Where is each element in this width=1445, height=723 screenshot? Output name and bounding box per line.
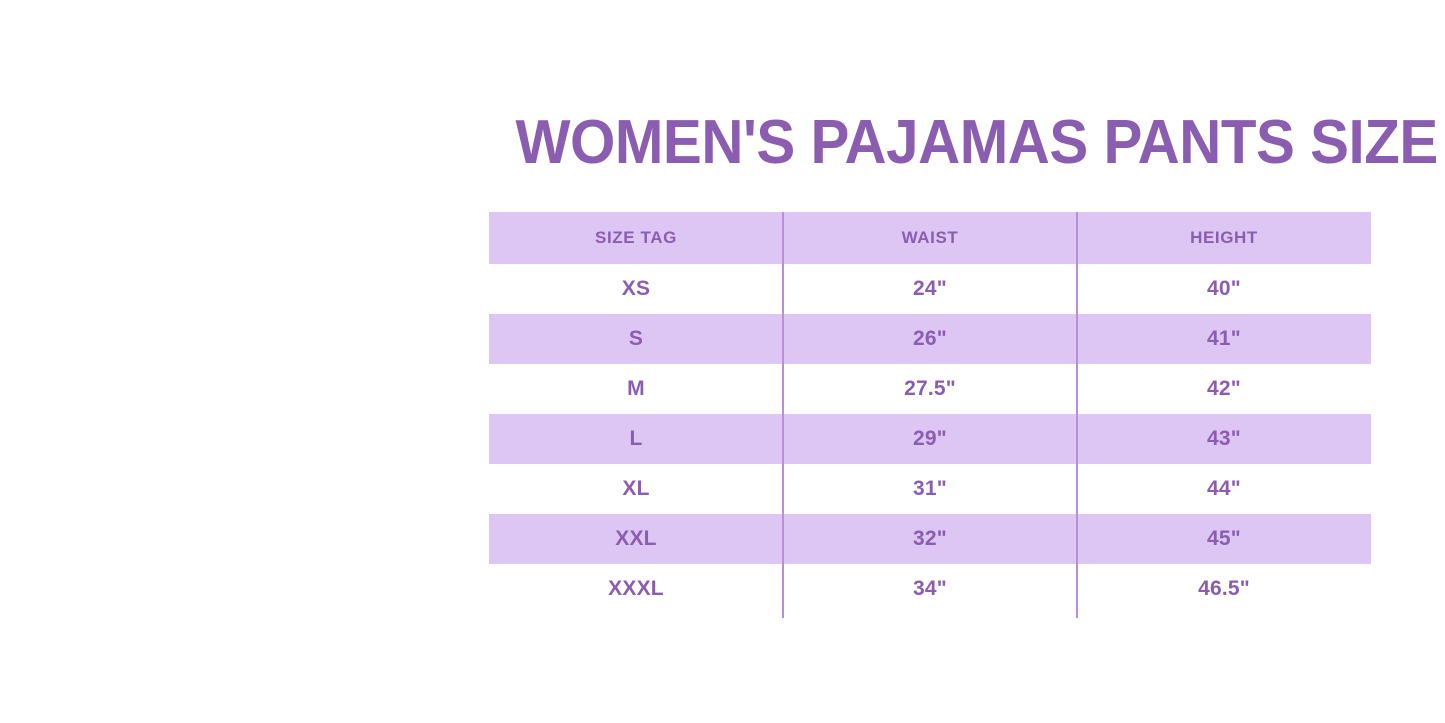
cell-waist: 24" <box>783 264 1077 314</box>
table-row: XS 24" 40" <box>489 264 1371 314</box>
cell-height: 41" <box>1077 314 1371 364</box>
cell-height: 40" <box>1077 264 1371 314</box>
cell-size-tag: XL <box>489 464 783 514</box>
cell-size-tag: M <box>489 364 783 414</box>
cell-size-tag: L <box>489 414 783 464</box>
cell-waist: 27.5" <box>783 364 1077 414</box>
cell-waist: 29" <box>783 414 1077 464</box>
table-header: SIZE TAG WAIST HEIGHT <box>489 212 1371 264</box>
table-row: M 27.5" 42" <box>489 364 1371 414</box>
page-title: WOMEN'S PAJAMAS PANTS SIZE CHART <box>515 104 1344 182</box>
table-header-row: SIZE TAG WAIST HEIGHT <box>489 212 1371 264</box>
cell-height: 44" <box>1077 464 1371 514</box>
table-row: S 26" 41" <box>489 314 1371 364</box>
cell-height: 45" <box>1077 514 1371 564</box>
table-row: L 29" 43" <box>489 414 1371 464</box>
cell-size-tag: XXL <box>489 514 783 564</box>
column-header-height: HEIGHT <box>1077 212 1371 264</box>
table-row: XXL 32" 45" <box>489 514 1371 564</box>
cell-waist: 34" <box>783 564 1077 614</box>
table-row: XL 31" 44" <box>489 464 1371 514</box>
column-header-size-tag: SIZE TAG <box>489 212 783 264</box>
cell-size-tag: S <box>489 314 783 364</box>
column-header-waist: WAIST <box>783 212 1077 264</box>
table-row: XXXL 34" 46.5" <box>489 564 1371 614</box>
cell-waist: 26" <box>783 314 1077 364</box>
cell-height: 46.5" <box>1077 564 1371 614</box>
size-chart-table: SIZE TAG WAIST HEIGHT XS 24" 40" S 26" 4… <box>489 212 1371 614</box>
cell-height: 42" <box>1077 364 1371 414</box>
cell-waist: 32" <box>783 514 1077 564</box>
cell-waist: 31" <box>783 464 1077 514</box>
size-chart-page: WOMEN'S PAJAMAS PANTS SIZE CHART SIZE TA… <box>0 0 1445 723</box>
cell-size-tag: XXXL <box>489 564 783 614</box>
cell-height: 43" <box>1077 414 1371 464</box>
size-chart-table-container: SIZE TAG WAIST HEIGHT XS 24" 40" S 26" 4… <box>489 212 1371 616</box>
cell-size-tag: XS <box>489 264 783 314</box>
table-body: XS 24" 40" S 26" 41" M 27.5" 42" L 29" <box>489 264 1371 614</box>
